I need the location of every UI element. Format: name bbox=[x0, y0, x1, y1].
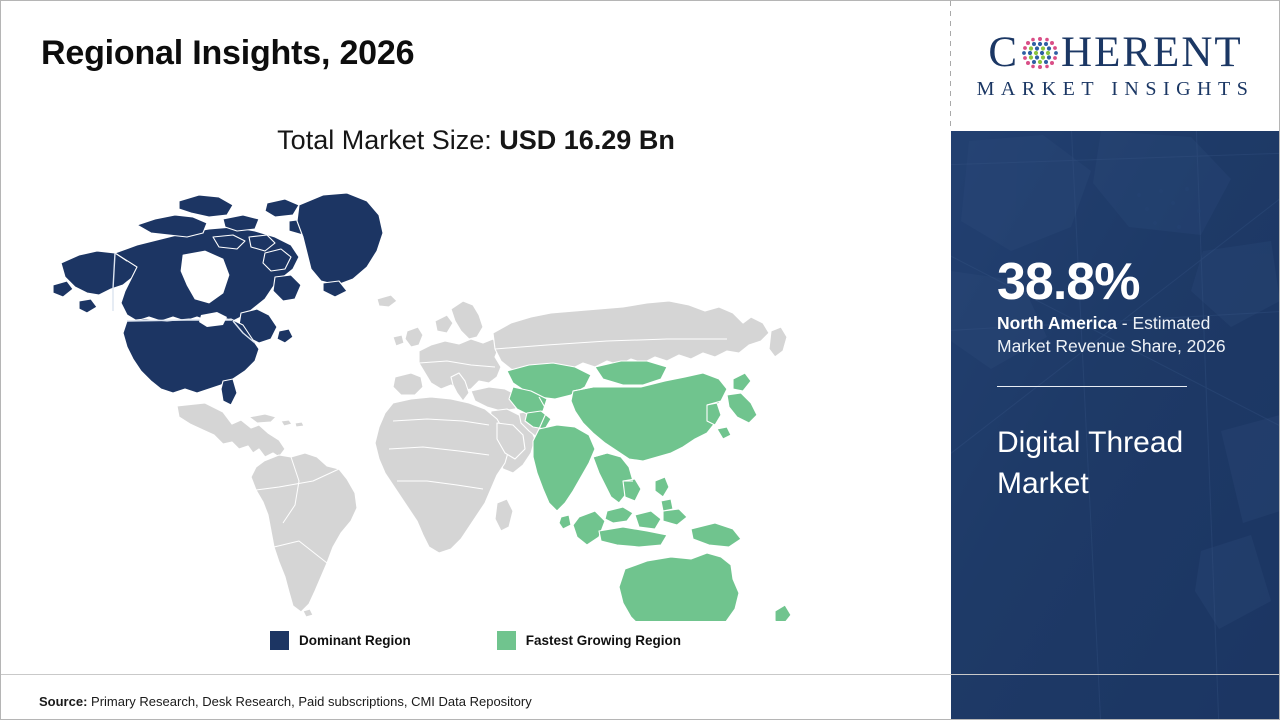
source-line: Source: Primary Research, Desk Research,… bbox=[39, 694, 532, 709]
legend-item-dominant: Dominant Region bbox=[270, 631, 411, 650]
share-percentage: 38.8% bbox=[997, 256, 1265, 308]
legend-label-fastest-growing: Fastest Growing Region bbox=[526, 633, 681, 648]
legend-item-fastest-growing: Fastest Growing Region bbox=[497, 631, 681, 650]
map-region-north-america bbox=[53, 193, 383, 405]
market-size-label: Total Market Size: bbox=[277, 125, 499, 155]
dotted-globe-icon bbox=[1020, 33, 1060, 73]
sidebar-content: 38.8% North America - Estimated Market R… bbox=[997, 256, 1265, 504]
logo-tagline: MARKET INSIGHTS bbox=[977, 78, 1255, 101]
source-text: Primary Research, Desk Research, Paid su… bbox=[87, 694, 531, 709]
market-name: Digital Thread Market bbox=[997, 423, 1265, 504]
legend-label-dominant: Dominant Region bbox=[299, 633, 411, 648]
stat-sidebar: 38.8% North America - Estimated Market R… bbox=[951, 131, 1280, 719]
infographic-canvas: Regional Insights, 2026 Total Market Siz… bbox=[0, 0, 1280, 720]
share-description: North America - Estimated Market Revenue… bbox=[997, 312, 1265, 358]
world-map-svg bbox=[27, 181, 827, 621]
legend-swatch-navy-icon bbox=[270, 631, 289, 650]
logo-letter-c: C bbox=[988, 31, 1019, 74]
source-label: Source: bbox=[39, 694, 87, 709]
market-size-line: Total Market Size: USD 16.29 Bn bbox=[41, 125, 911, 156]
logo-letters-herent: HERENT bbox=[1061, 31, 1243, 74]
page-title: Regional Insights, 2026 bbox=[41, 34, 414, 73]
world-map-container bbox=[27, 181, 827, 621]
brand-logo: C HERENT MARKET INSIG bbox=[951, 2, 1280, 130]
source-divider bbox=[1, 674, 1280, 675]
logo-wordmark: C HERENT bbox=[988, 31, 1242, 74]
share-region-name: North America bbox=[997, 313, 1117, 333]
market-size-value: USD 16.29 Bn bbox=[499, 125, 675, 155]
map-region-asia-pacific bbox=[507, 361, 797, 621]
map-legend: Dominant Region Fastest Growing Region bbox=[1, 631, 950, 650]
map-panel: Regional Insights, 2026 Total Market Siz… bbox=[1, 1, 950, 719]
sidebar-divider-rule bbox=[997, 386, 1187, 387]
legend-swatch-green-icon bbox=[497, 631, 516, 650]
